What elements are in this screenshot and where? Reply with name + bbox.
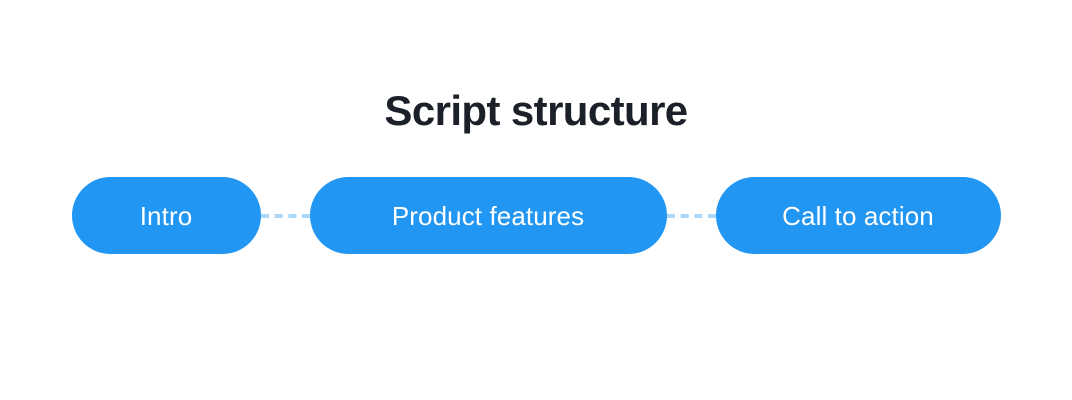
flow-step-label: Product features [392, 203, 584, 229]
dashed-line-icon [261, 214, 310, 218]
diagram-canvas: Script structure Intro Product features … [0, 0, 1072, 400]
flow-connector-2 [667, 214, 716, 218]
flow-step-call-to-action[interactable]: Call to action [716, 177, 1001, 254]
flow-step-product-features[interactable]: Product features [310, 177, 667, 254]
flow-diagram: Intro Product features Call to action [72, 177, 1001, 254]
flow-step-intro[interactable]: Intro [72, 177, 261, 254]
flow-step-label: Intro [140, 203, 193, 229]
flow-connector-1 [261, 214, 310, 218]
dashed-line-icon [667, 214, 716, 218]
flow-step-label: Call to action [782, 203, 934, 229]
page-title: Script structure [384, 88, 687, 134]
